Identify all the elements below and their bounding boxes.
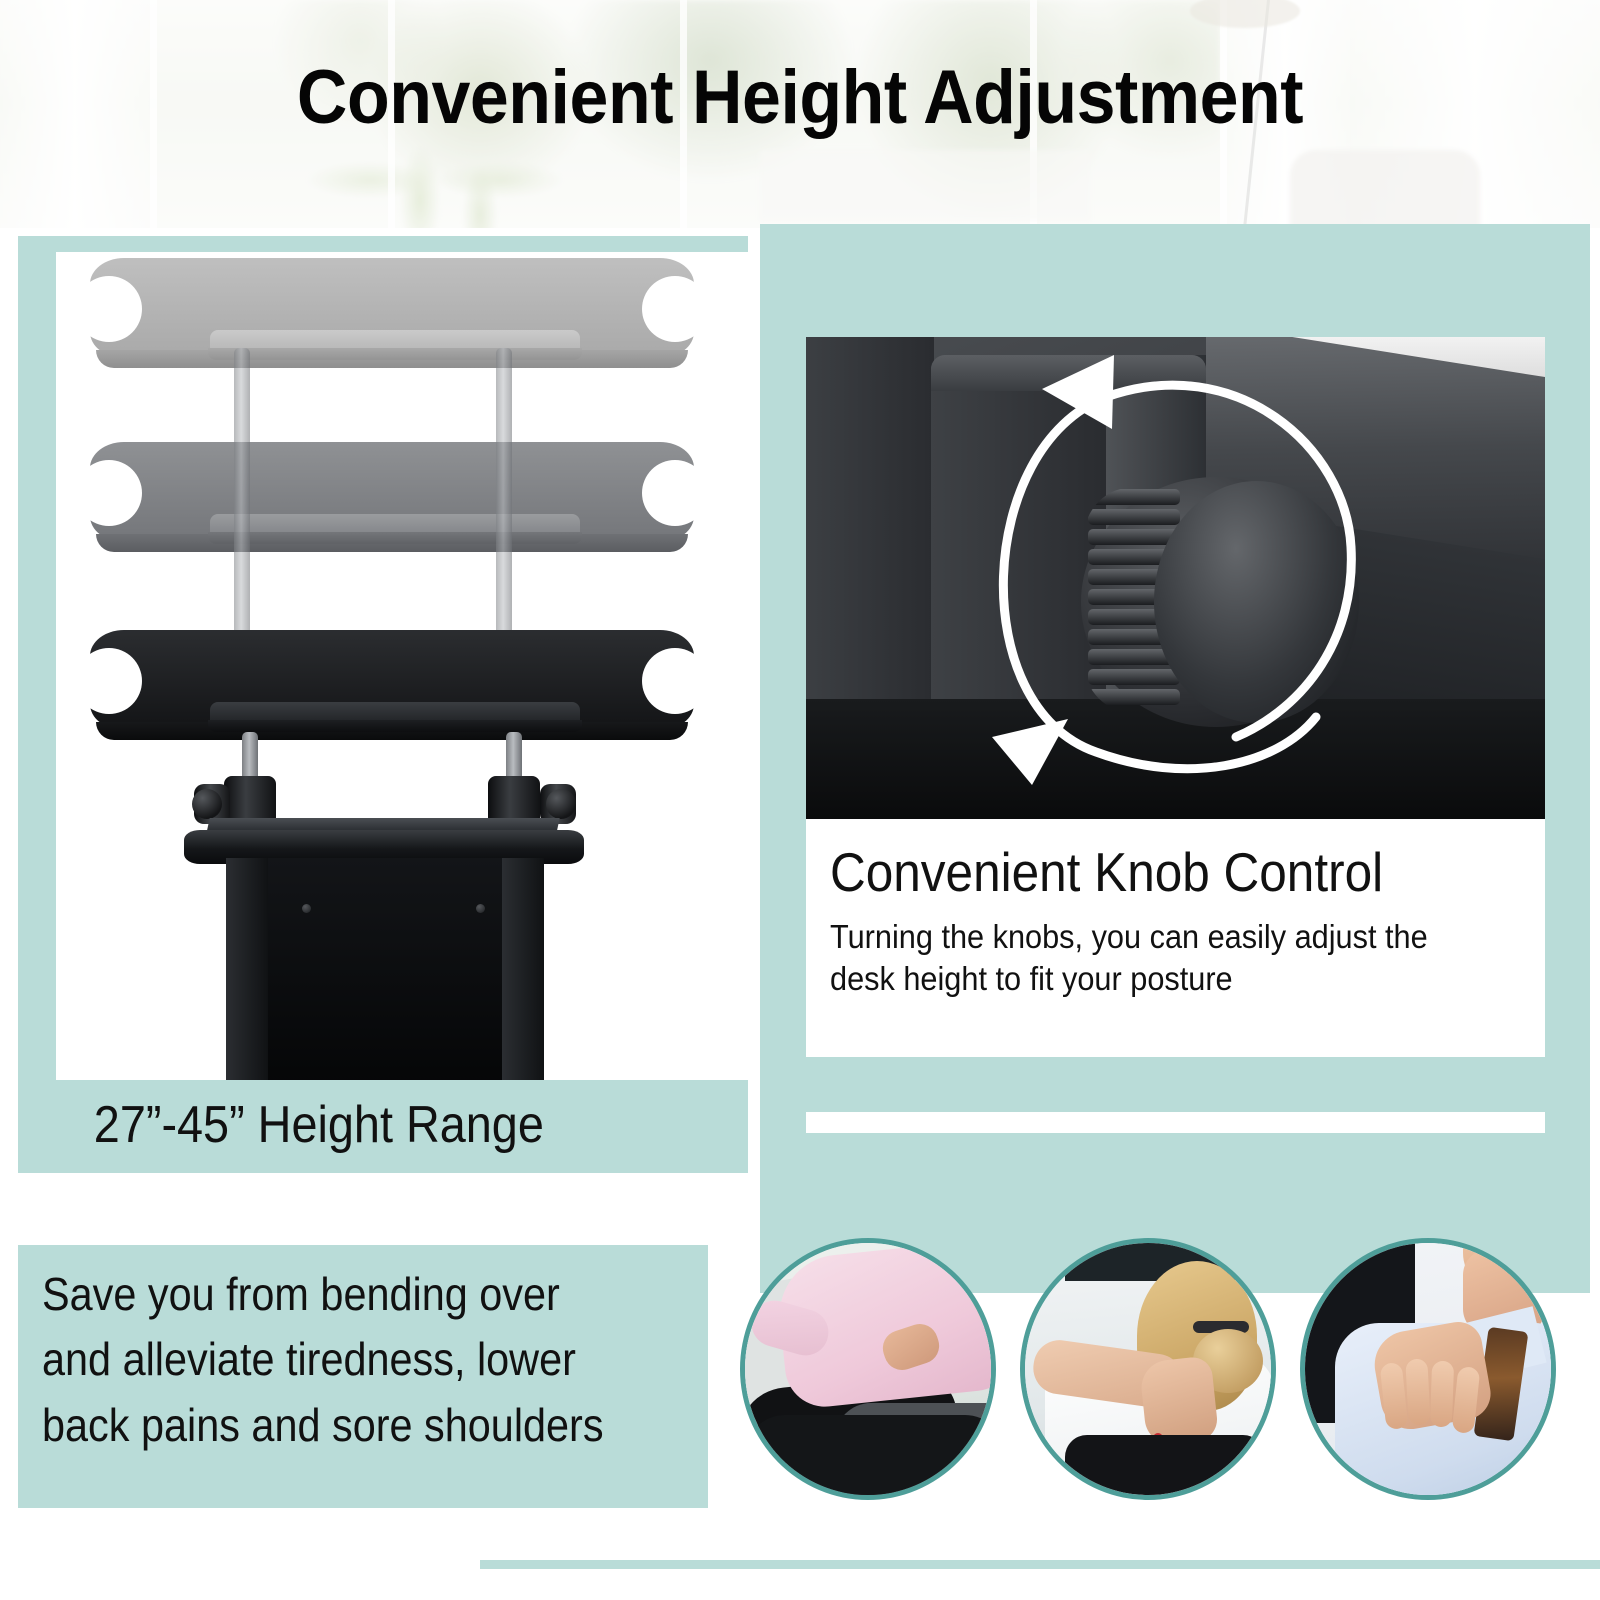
pain-point-photos [720,1238,1590,1500]
cabinet-screw-right [476,904,485,913]
cabinet-screw-left [302,904,311,913]
knob-description: Turning the knobs, you can easily adjust… [830,916,1473,1000]
base-cabinet-left-side [226,858,268,1080]
telescoping-post-left-ghost [234,348,250,648]
knob-closeup-photo [806,337,1545,819]
height-range-caption: 27”-45” Height Range [56,1086,679,1164]
adjustment-knob-left-cap [192,789,222,819]
rotation-arrow-icon [806,337,1545,819]
photo-shoulder-pain [1300,1238,1556,1500]
base-cabinet [226,858,544,1080]
adjustment-knob-right-cap [546,789,576,819]
footer-accent-bar [480,1560,1600,1569]
telescoping-post-right-ghost [496,348,512,648]
panel-divider-stripe [806,1112,1545,1133]
photo-lower-back-pain [740,1238,996,1500]
knob-heading: Convenient Knob Control [830,844,1452,902]
photo-neck-pain [1020,1238,1276,1500]
page-title: Convenient Height Adjustment [64,60,1536,136]
benefit-text: Save you from bending over and alleviate… [42,1262,636,1458]
base-cabinet-right-side [502,858,544,1080]
hero-banner: Convenient Height Adjustment [0,0,1600,228]
desk-height-illustration [56,252,748,1080]
knob-text-block: Convenient Knob Control Turning the knob… [806,826,1545,1057]
product-feature-infographic: Convenient Height Adjustment [0,0,1600,1600]
